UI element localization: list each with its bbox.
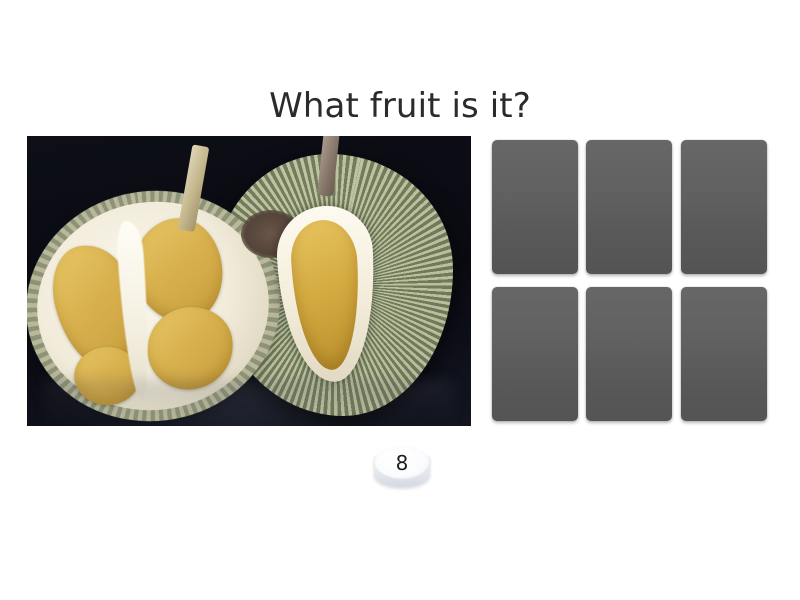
photo-background: [27, 136, 471, 426]
score-counter: 8: [374, 446, 430, 490]
durian-stem-left: [178, 144, 210, 232]
durian-stem-right: [317, 136, 341, 197]
answer-card[interactable]: [586, 287, 672, 421]
answer-card[interactable]: [681, 287, 767, 421]
answer-card[interactable]: [681, 140, 767, 274]
photo-reflection: [45, 380, 454, 426]
counter-value: 8: [374, 446, 430, 480]
answer-card[interactable]: [492, 140, 578, 274]
page-title: What fruit is it?: [0, 86, 800, 126]
durian-flesh-lobe: [289, 218, 363, 371]
answer-card-grid: [492, 140, 767, 421]
answer-card[interactable]: [586, 140, 672, 274]
answer-card[interactable]: [492, 287, 578, 421]
durian-split-pith: [274, 204, 379, 385]
question-image: [27, 136, 471, 426]
